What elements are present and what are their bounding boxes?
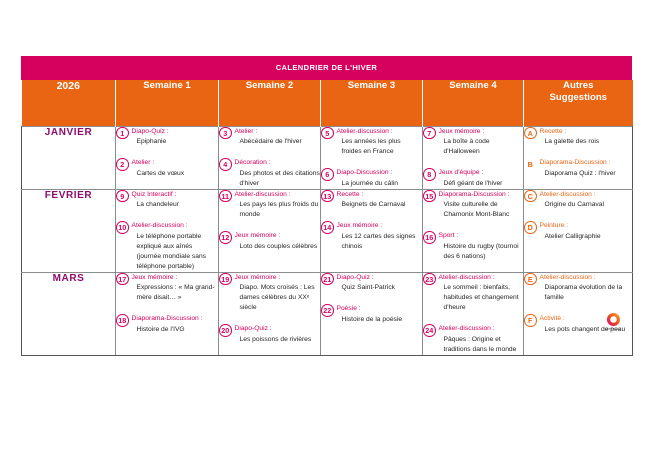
header-row: 2026 Semaine 1 Semaine 2 Semaine 3 Semai… [22,80,633,127]
entry-title: Diapo-Quiz : [337,273,423,283]
week-cell: 7Jeux mémoire :La boîte à code d'Hallowe… [423,126,524,189]
entry-badge: 2 [116,158,129,171]
entry-badge: 15 [423,190,436,203]
week-cell: 11Atelier-discussion :Les pays les plus … [219,189,321,272]
entry-description: Les années les plus froides en France [337,137,423,157]
brand-logo: OCTAVE.HB [600,312,626,331]
calendar-entry: 5Atelier-discussion :Les années les plus… [321,127,422,158]
entry-badge: 5 [321,127,334,140]
entry-body: Quiz Interactif :La chandeleur [132,190,219,211]
entry-body: Atelier-discussion :Les pays les plus fr… [235,190,321,221]
calendar-entry: 3Atelier :Abécédaire de l'hiver [219,127,320,148]
entry-title: Atelier-discussion : [337,127,423,137]
entry-title: Jeux mémoire : [235,231,321,241]
entry-body: Diapo-Quiz :Epiphanie [132,127,219,148]
entry-badge: 6 [321,168,334,181]
entry-body: Jeux mémoire :Loto des couples célèbres [235,231,321,252]
entry-badge: 3 [219,127,232,140]
entry-badge: 19 [219,273,232,286]
entry-badge: 12 [219,231,232,244]
entry-description: Défi géant de l'hiver [439,179,524,189]
calendar-entry: 12Jeux mémoire :Loto des couples célèbre… [219,231,320,252]
entry-description: Diaporama évolution de la famille [540,283,633,303]
calendar-entry: 4Décoration :Des photos et des citations… [219,158,320,189]
entry-title: Jeux d'équipe : [439,168,524,178]
entry-title: Diaporama-Discussion : [439,190,524,200]
week-cell: 13Recette :Beignets de Carnaval14Jeux mé… [321,189,423,272]
entry-title: Atelier-discussion : [439,324,524,334]
calendar-entry: 13Recette :Beignets de Carnaval [321,190,422,211]
entry-body: Poésie :Histoire de la poésie [337,304,423,325]
calendar-entry: 1Diapo-Quiz :Epiphanie [116,127,218,148]
entry-badge: 18 [116,314,129,327]
entry-description: Le téléphone portable expliqué aux aînés… [132,232,219,272]
entry-badge: 14 [321,221,334,234]
entry-badge: 9 [116,190,129,203]
entry-title: Poésie : [337,304,423,314]
week-cell: 5Atelier-discussion :Les années les plus… [321,126,423,189]
entry-description: Loto des couples célèbres [235,242,321,252]
entry-badge: C [524,190,537,203]
logo-label: OCTAVE.HB [600,328,626,331]
calendar-entry: BDiaporama-Discussion :Diaporama Quiz : … [524,158,632,179]
entry-description: Diapo. Mots croisés : Les dames célèbres… [235,283,321,313]
entry-title: Recette : [337,190,423,200]
calendar-entry: 8Jeux d'équipe :Défi géant de l'hiver [423,168,523,189]
entry-badge: 22 [321,304,334,317]
entry-title: Atelier-discussion : [132,221,219,231]
entry-body: Atelier-discussion :Les années les plus … [337,127,423,158]
entry-body: Diapo-Quiz :Les poissons de rivières [235,324,321,345]
entry-description: Expressions : « Ma grand-mère disait… » [132,283,219,303]
calendar-entry: 24Atelier-discussion :Pâques : Origine e… [423,324,523,355]
calendar-entry: 22Poésie :Histoire de la poésie [321,304,422,325]
entry-description: Beignets de Carnaval [337,200,423,210]
calendar-entry: 20Diapo-Quiz :Les poissons de rivières [219,324,320,345]
entry-title: Diapo-Discussion : [337,168,423,178]
entry-body: Atelier-discussion :Le sommeil : bienfai… [439,273,524,313]
entry-body: Diaporama-Discussion :Histoire de l'IVG [132,314,219,335]
entry-description: Abécédaire de l'hiver [235,137,321,147]
entry-badge: A [524,127,537,140]
calendar-entry: ARecette :La galette des rois [524,127,632,148]
entry-body: Jeux mémoire :La boîte à code d'Hallowee… [439,127,524,158]
entry-badge: 4 [219,158,232,171]
entry-description: Diaporama Quiz : l'hiver [540,169,633,179]
calendar-entry: 23Atelier-discussion :Le sommeil : bienf… [423,273,523,313]
calendar-entry: 11Atelier-discussion :Les pays les plus … [219,190,320,221]
entry-title: Atelier-discussion : [235,190,321,200]
entry-description: Le sommeil : bienfaits, habitudes et cha… [439,283,524,313]
entry-title: Atelier : [235,127,321,137]
entry-body: Atelier :Cartes de vœux [132,158,219,179]
entry-body: Atelier :Abécédaire de l'hiver [235,127,321,148]
entry-badge: 16 [423,231,436,244]
entry-description: Quiz Saint-Patrick [337,283,423,293]
entry-description: Les poissons de rivières [235,335,321,345]
calendar-entry: 7Jeux mémoire :La boîte à code d'Hallowe… [423,127,523,158]
calendar-entry: 16Sport :Histoire du rugby (tournoi des … [423,231,523,262]
entry-title: Peinture : [540,221,633,231]
entry-description: Visite culturelle de Chamonix Mont-Blanc [439,200,524,220]
entry-badge: 1 [116,127,129,140]
entry-body: Recette :Beignets de Carnaval [337,190,423,211]
suggestions-wrap: EAtelier-discussion :Diaporama évolution… [524,273,632,335]
page-title: CALENDRIER DE L'HIVER [21,56,632,80]
entry-title: Quiz Interactif : [132,190,219,200]
header-year: 2026 [22,80,116,127]
entry-description: Origine du Carnaval [540,200,633,210]
entry-title: Jeux mémoire : [337,221,423,231]
calendar-entry: 19Jeux mémoire :Diapo. Mots croisés : Le… [219,273,320,313]
entry-description: La chandeleur [132,200,219,210]
entry-title: Atelier : [132,158,219,168]
entry-body: Peinture :Atelier Calligraphie [540,221,633,242]
month-label: JANVIER [22,126,116,189]
entry-badge: 20 [219,324,232,337]
entry-badge: 17 [116,273,129,286]
entry-badge: 13 [321,190,334,203]
entry-description: Histoire du rugby (tournoi des 6 nations… [439,242,524,262]
entry-body: Jeux mémoire :Expressions : « Ma grand-m… [132,273,219,304]
logo-swirl-icon [606,312,621,327]
entry-body: Jeux mémoire :Diapo. Mots croisés : Les … [235,273,321,313]
entry-badge: 10 [116,221,129,234]
entry-description: Epiphanie [132,137,219,147]
entry-title: Atelier-discussion : [439,273,524,283]
table-row: MARS17Jeux mémoire :Expressions : « Ma g… [22,272,633,355]
calendar-entry: 9Quiz Interactif :La chandeleur [116,190,218,211]
entry-description: Cartes de vœux [132,169,219,179]
entry-title: Recette : [540,127,633,137]
calendar-entry: 18Diaporama-Discussion :Histoire de l'IV… [116,314,218,335]
entry-title: Décoration : [235,158,321,168]
week-cell: 15Diaporama-Discussion :Visite culturell… [423,189,524,272]
entry-description: Histoire de l'IVG [132,325,219,335]
entry-title: Diaporama-Discussion : [540,158,633,168]
header-week-4: Semaine 4 [423,80,524,127]
entry-badge: 11 [219,190,232,203]
header-week-3: Semaine 3 [321,80,423,127]
header-suggestions-line2: Suggestions [549,92,607,103]
entry-description: La boîte à code d'Halloween [439,137,524,157]
entry-body: Diapo-Discussion :La journée du câlin [337,168,423,189]
entry-title: Atelier-discussion : [540,190,633,200]
entry-badge: 7 [423,127,436,140]
entry-body: Diaporama-Discussion :Visite culturelle … [439,190,524,221]
suggestions-cell: ARecette :La galette des roisBDiaporama-… [524,126,633,189]
week-cell: 23Atelier-discussion :Le sommeil : bienf… [423,272,524,355]
calendar-entry: 21Diapo-Quiz :Quiz Saint-Patrick [321,273,422,294]
entry-title: Jeux mémoire : [439,127,524,137]
entry-description: Histoire de la poésie [337,315,423,325]
entry-body: Décoration :Des photos et des citations … [235,158,321,189]
calendar-entry: EAtelier-discussion :Diaporama évolution… [524,273,632,304]
entry-badge: 21 [321,273,334,286]
entry-title: Diapo-Quiz : [132,127,219,137]
entry-body: Diapo-Quiz :Quiz Saint-Patrick [337,273,423,294]
entry-title: Jeux mémoire : [132,273,219,283]
entry-body: Atelier-discussion :Le téléphone portabl… [132,221,219,271]
week-cell: 19Jeux mémoire :Diapo. Mots croisés : Le… [219,272,321,355]
calendar-table: 2026 Semaine 1 Semaine 2 Semaine 3 Semai… [21,80,633,356]
header-week-2: Semaine 2 [219,80,321,127]
calendar-entry: CAtelier-discussion :Origine du Carnaval [524,190,632,211]
table-row: JANVIER1Diapo-Quiz :Epiphanie2Atelier :C… [22,126,633,189]
week-cell: 1Diapo-Quiz :Epiphanie2Atelier :Cartes d… [116,126,219,189]
entry-title: Atelier-discussion : [540,273,633,283]
suggestions-wrap: ARecette :La galette des roisBDiaporama-… [524,127,632,179]
entry-badge: E [524,273,537,286]
header-other-suggestions: Autres Suggestions [524,80,633,127]
calendar-page: CALENDRIER DE L'HIVER 2026 Semaine 1 Sem… [0,0,650,460]
entry-badge: 23 [423,273,436,286]
table-body: JANVIER1Diapo-Quiz :Epiphanie2Atelier :C… [22,126,633,355]
suggestions-cell: CAtelier-discussion :Origine du Carnaval… [524,189,633,272]
week-cell: 3Atelier :Abécédaire de l'hiver4Décorati… [219,126,321,189]
header-week-1: Semaine 1 [116,80,219,127]
week-cell: 21Diapo-Quiz :Quiz Saint-Patrick22Poésie… [321,272,423,355]
entry-description: Les pays les plus froids du monde [235,200,321,220]
suggestions-wrap: CAtelier-discussion :Origine du Carnaval… [524,190,632,242]
calendar-entry: DPeinture :Atelier Calligraphie [524,221,632,242]
entry-title: Diaporama-Discussion : [132,314,219,324]
entry-body: Atelier-discussion :Pâques : Origine et … [439,324,524,355]
entry-badge: B [524,158,537,171]
entry-badge: 8 [423,168,436,181]
calendar-entry: 10Atelier-discussion :Le téléphone porta… [116,221,218,271]
calendar-entry: 15Diaporama-Discussion :Visite culturell… [423,190,523,221]
entry-title: Sport : [439,231,524,241]
header-suggestions-line1: Autres [563,80,593,91]
table-header: 2026 Semaine 1 Semaine 2 Semaine 3 Semai… [22,80,633,127]
entry-description: Des photos et des citations d'hiver [235,169,321,189]
entry-badge: F [524,314,537,327]
calendar-container: CALENDRIER DE L'HIVER 2026 Semaine 1 Sem… [21,56,632,356]
entry-body: Jeux d'équipe :Défi géant de l'hiver [439,168,524,189]
month-label: MARS [22,272,116,355]
week-cell: 9Quiz Interactif :La chandeleur10Atelier… [116,189,219,272]
entry-badge: D [524,221,537,234]
entry-body: Sport :Histoire du rugby (tournoi des 6 … [439,231,524,262]
calendar-entry: 14Jeux mémoire :Les 12 cartes des signes… [321,221,422,252]
entry-badge: 24 [423,324,436,337]
entry-body: Jeux mémoire :Les 12 cartes des signes c… [337,221,423,252]
calendar-entry: 2Atelier :Cartes de vœux [116,158,218,179]
week-cell: 17Jeux mémoire :Expressions : « Ma grand… [116,272,219,355]
entry-description: Les 12 cartes des signes chinois [337,232,423,252]
month-label: FEVRIER [22,189,116,272]
calendar-entry: 6Diapo-Discussion :La journée du câlin [321,168,422,189]
calendar-entry: 17Jeux mémoire :Expressions : « Ma grand… [116,273,218,304]
table-row: FEVRIER9Quiz Interactif :La chandeleur10… [22,189,633,272]
entry-description: Pâques : Origine et traditions dans le m… [439,335,524,355]
entry-description: Atelier Calligraphie [540,232,633,242]
suggestions-cell: EAtelier-discussion :Diaporama évolution… [524,272,633,355]
entry-description: La galette des rois [540,137,633,147]
entry-description: La journée du câlin [337,179,423,189]
entry-title: Diapo-Quiz : [235,324,321,334]
entry-body: Recette :La galette des rois [540,127,633,148]
entry-title: Jeux mémoire : [235,273,321,283]
entry-body: Atelier-discussion :Diaporama évolution … [540,273,633,304]
entry-body: Diaporama-Discussion :Diaporama Quiz : l… [540,158,633,179]
entry-body: Atelier-discussion :Origine du Carnaval [540,190,633,211]
